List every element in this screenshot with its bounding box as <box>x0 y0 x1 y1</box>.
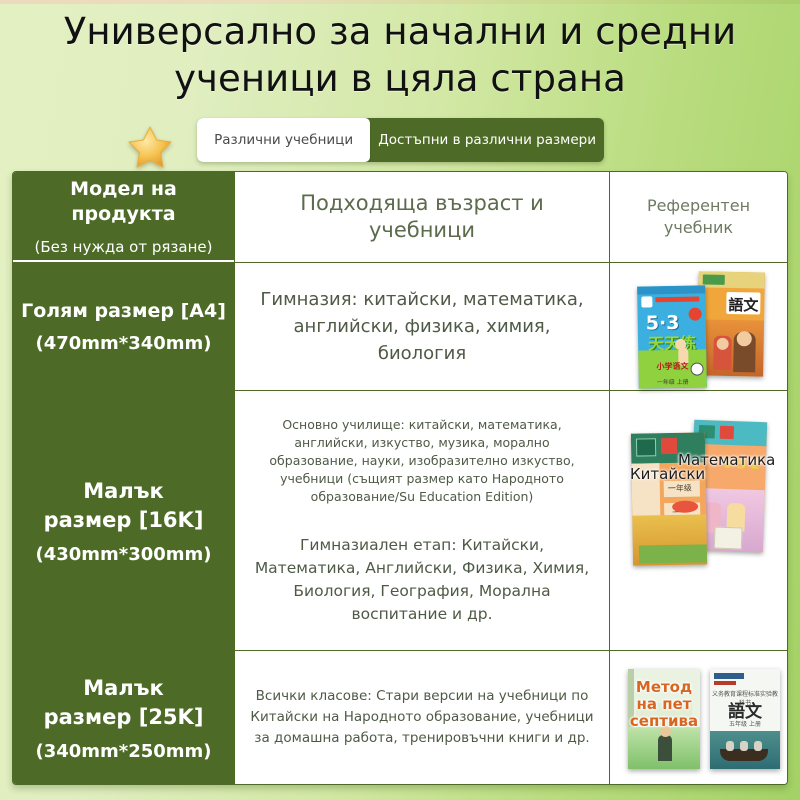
row-a4-model-name: Голям размер [A4] <box>21 299 226 324</box>
row-16k-model-size: (430mm*300mm) <box>35 544 211 565</box>
row-16k-description-secondary: Гимназиален етап: Китайски, Математика, … <box>249 534 595 626</box>
product-comparison-table: Модел на продукта (Без нужда от рязане) … <box>12 171 788 785</box>
row-25k-model: Малък размер [25K] (340mm*250mm) <box>13 651 234 784</box>
row-25k-model-name: Малък размер [25K] <box>44 674 204 732</box>
row-a4-model-size: (470mm*340mm) <box>35 333 211 354</box>
table-header-row: Модел на продукта (Без нужда от рязане) … <box>13 172 787 263</box>
row-16k-model-name-line2: размер [16K] <box>44 506 204 535</box>
tab-available-sizes[interactable]: Достъпни в различни размери <box>370 118 604 162</box>
row-25k-reference-books: 义务教育课程标准实验教科书 語文 五年级 上册 Метод на пет сеп… <box>610 651 787 784</box>
header-model-subtitle: (Без нужда от рязане) <box>35 238 213 256</box>
header-reference-line2: учебник <box>647 217 750 239</box>
promo-page: Универсално за начални и средни ученици … <box>0 0 800 800</box>
top-accent-strip <box>0 0 800 4</box>
row-16k-reference-books: 9 5 2 一年级 上册 <box>610 391 787 650</box>
header-description-text: Подходяща възраст и учебници <box>249 190 595 244</box>
header-cell-reference: Референтен учебник <box>610 172 787 262</box>
header-cell-description: Подходяща възраст и учебници <box>234 172 610 262</box>
table-row: Малък размер [25K] (340mm*250mm) Всички … <box>13 651 787 784</box>
header-reference-line1: Референтен <box>647 195 750 217</box>
book-cover-yuwen: 語文 <box>697 271 765 376</box>
row-16k-model: Малък размер [16K] (430mm*300mm) <box>13 391 234 650</box>
header-model-title: Модел на продукта <box>19 177 228 227</box>
row-16k-model-name: Малък размер [16K] <box>44 477 204 535</box>
row-25k-description-text: Всички класове: Стари версии на учебници… <box>249 686 595 749</box>
tab-bar[interactable]: Различни учебници Достъпни в различни ра… <box>197 118 604 162</box>
row-a4-description: Гимназия: китайски, математика, английск… <box>234 263 610 390</box>
header-reference-text: Референтен учебник <box>647 195 750 239</box>
row-16k-model-name-line1: Малък <box>44 477 204 506</box>
row-16k-description-primary: Основно училище: китайски, математика, а… <box>249 416 595 506</box>
row-a4-description-text: Гимназия: китайски, математика, английск… <box>249 286 595 367</box>
book-cover-53-tiantian: 5·3 天天练 小学语文 一年级 上册 <box>637 285 707 388</box>
page-title: Универсално за начални и средни ученици … <box>0 8 800 102</box>
star-icon <box>128 124 172 168</box>
book-overlay-label-math: Математика <box>678 451 775 469</box>
row-25k-description: Всички класове: Стари версии на учебници… <box>234 651 610 784</box>
row-25k-model-size: (340mm*250mm) <box>35 741 211 762</box>
table-row: Голям размер [A4] (470mm*340mm) Гимназия… <box>13 263 787 391</box>
book-cover-yuwen-old: 义务教育课程标准实验教科书 語文 五年级 上册 <box>710 669 780 769</box>
row-a4-model: Голям размер [A4] (470mm*340mm) <box>13 263 234 390</box>
row-a4-reference-books: 語文 5·3 天天练 <box>610 263 787 390</box>
row-16k-description: Основно училище: китайски, математика, а… <box>234 391 610 650</box>
book-overlay-label-method: Метод на пет септива <box>624 679 704 730</box>
row-25k-model-name-line2: размер [25K] <box>44 703 204 732</box>
table-row: Малък размер [16K] (430mm*300mm) Основно… <box>13 391 787 651</box>
header-cell-model: Модел на продукта (Без нужда от рязане) <box>13 172 234 262</box>
tab-different-textbooks[interactable]: Различни учебници <box>197 118 370 162</box>
row-25k-model-name-line1: Малък <box>44 674 204 703</box>
